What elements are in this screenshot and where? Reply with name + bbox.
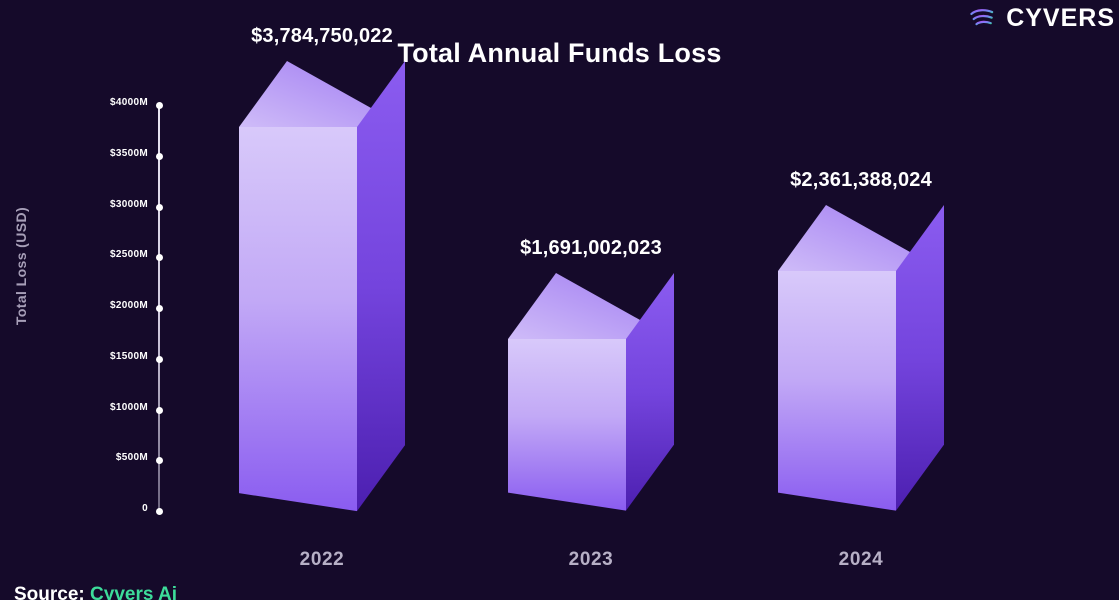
y-axis-tick: 0 [152,504,166,518]
bar-category-2022: 2022 [300,549,345,571]
y-axis-tick-dot [156,254,163,261]
y-axis-tick: $4000M [152,98,166,112]
y-axis-tick-label: $4000M [110,97,148,108]
y-axis-tick: $3500M [152,149,166,163]
y-axis-tick-dot [156,102,163,109]
y-axis-title: Total Loss (USD) [13,196,29,336]
source-name: Cyvers Ai [90,584,177,600]
y-axis-tick: $2500M [152,250,166,264]
bar-shape-2023 [508,273,674,521]
y-axis-tick-dot [156,204,163,211]
bar-2023[interactable]: $1,691,002,0232023 [508,273,674,521]
bar-value-2022: $3,784,750,022 [251,25,393,48]
bar-value-2024: $2,361,388,024 [790,169,932,192]
bar-2022[interactable]: $3,784,750,0222022 [239,61,405,521]
y-axis-tick-label: $1500M [110,351,148,362]
brand-name: CYVERS [1006,6,1115,31]
y-axis-tick-label: $3500M [110,148,148,159]
y-axis-tick-dot [156,153,163,160]
y-axis-tick: $1500M [152,352,166,366]
brand-logo: CYVERS [967,6,1115,31]
y-axis-tick-label: $2000M [110,300,148,311]
y-axis-tick-dot [156,356,163,363]
chart-canvas: CYVERS Total Annual Funds Loss Total Los… [0,0,1119,600]
bar-category-2023: 2023 [569,549,614,571]
cyvers-wave-icon [967,7,997,31]
source-label: Source: [14,584,85,600]
y-axis-tick-label: 0 [142,503,148,514]
bar-shape-2022 [239,61,405,521]
page-title: Total Annual Funds Loss [0,38,1119,69]
source-credit: Source: Cyvers Ai [14,584,177,600]
y-axis-tick-label: $500M [116,452,148,463]
bar-category-2024: 2024 [839,549,884,571]
y-axis-tick: $3000M [152,200,166,214]
y-axis-tick-label: $2500M [110,249,148,260]
y-axis-tick-dot [156,508,163,515]
y-axis-tick-dot [156,407,163,414]
bar-value-2023: $1,691,002,023 [520,237,662,260]
y-axis-title-text: Total Loss (USD) [13,207,29,325]
bar-shape-2024 [778,205,944,521]
bar-2024[interactable]: $2,361,388,0242024 [778,205,944,521]
y-axis-tick: $2000M [152,301,166,315]
y-axis-tick: $500M [152,453,166,467]
y-axis-tick-label: $3000M [110,199,148,210]
y-axis-tick-label: $1000M [110,402,148,413]
y-axis-tick-dot [156,305,163,312]
y-axis-tick: $1000M [152,403,166,417]
y-axis-tick-dot [156,457,163,464]
